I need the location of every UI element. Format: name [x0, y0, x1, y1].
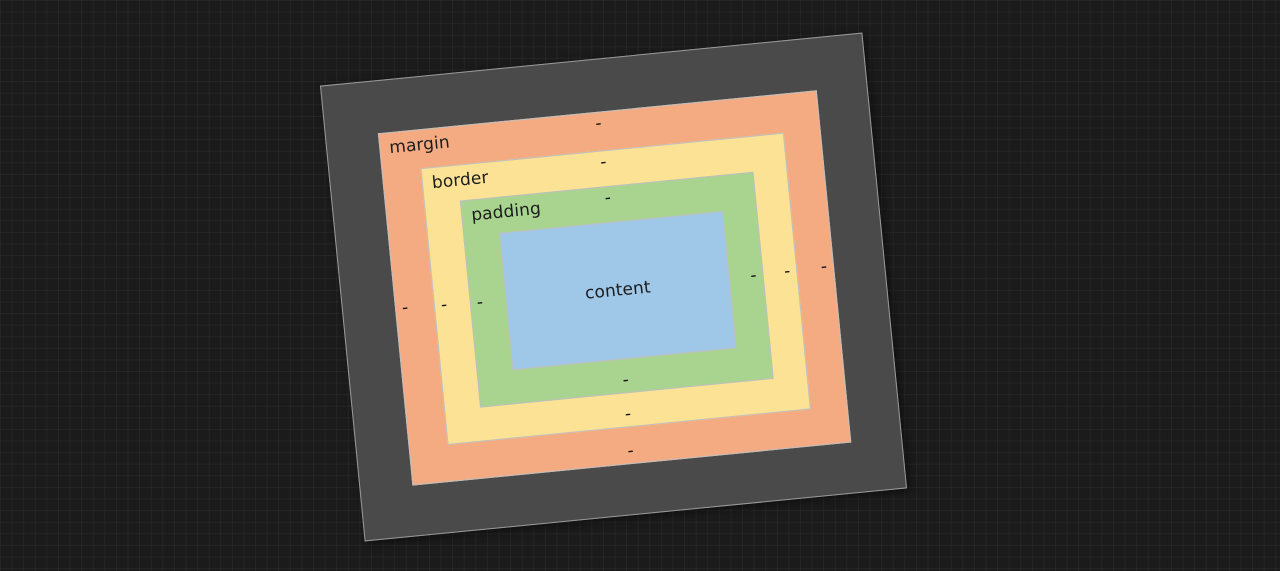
box-model-diagram: margin - - - - border - - - - padding - … — [320, 33, 907, 542]
padding-left-value[interactable]: - — [476, 294, 484, 312]
box-model-frame: margin - - - - border - - - - padding - … — [320, 33, 907, 542]
border-right-value[interactable]: - — [783, 263, 791, 281]
box-model-border-layer[interactable]: border - - - - padding - - - - content — [420, 133, 810, 445]
box-model-margin-layer[interactable]: margin - - - - border - - - - padding - … — [378, 90, 851, 485]
margin-right-value[interactable]: - — [820, 259, 828, 277]
border-left-value[interactable]: - — [440, 297, 448, 315]
content-label: content — [506, 270, 730, 312]
margin-left-value[interactable]: - — [401, 300, 409, 318]
box-model-padding-layer[interactable]: padding - - - - content — [460, 172, 774, 408]
box-model-content-layer[interactable]: content — [499, 211, 736, 370]
padding-right-value[interactable]: - — [750, 268, 758, 286]
